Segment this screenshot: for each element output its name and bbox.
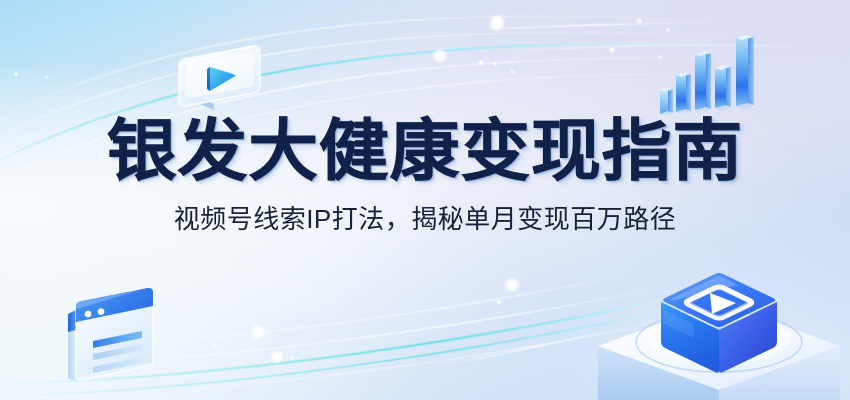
video-icon-decoration: [588, 262, 850, 400]
window-dot-2: [98, 308, 105, 315]
bar-chart-decoration: [660, 18, 770, 128]
bar-5: [736, 35, 754, 112]
bar-2: [676, 72, 691, 116]
play-card-icon: [170, 38, 270, 118]
bar-4: [715, 65, 731, 113]
banner-subtitle: 视频号线索IP打法，揭秘单月变现百万路径: [0, 205, 850, 234]
document-card-decoration: [62, 282, 192, 400]
banner-text-block: 银发大健康变现指南 视频号线索IP打法，揭秘单月变现百万路径: [0, 118, 850, 234]
video-play-icon: [588, 262, 850, 400]
bar-chart-icon: [660, 18, 770, 128]
bar-1: [660, 87, 673, 117]
play-card-decoration: [170, 38, 270, 118]
banner-title: 银发大健康变现指南: [0, 118, 850, 185]
promo-banner: 银发大健康变现指南 视频号线索IP打法，揭秘单月变现百万路径: [0, 0, 850, 400]
bar-3: [695, 51, 711, 115]
document-card-icon: [62, 282, 192, 400]
window-dot-1: [85, 311, 92, 318]
